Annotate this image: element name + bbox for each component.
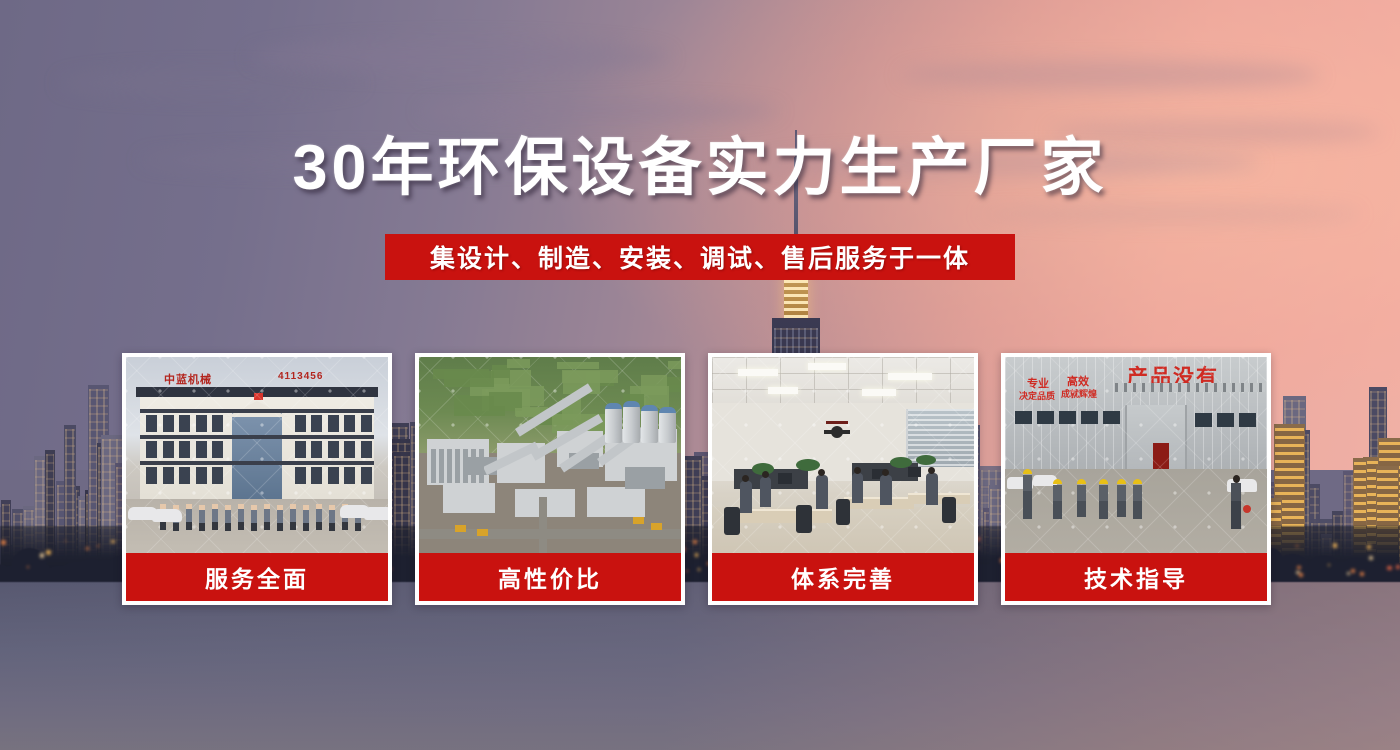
facade-band xyxy=(140,435,374,439)
shore-light xyxy=(1396,565,1400,569)
ceiling-light xyxy=(862,389,896,396)
staff-person xyxy=(316,504,322,530)
building-entrance xyxy=(232,413,282,499)
factory-window xyxy=(1103,411,1120,424)
window xyxy=(146,415,157,432)
building-phone-text: 4113456 xyxy=(278,371,323,382)
farmland-patch xyxy=(641,375,666,395)
staff-person xyxy=(303,505,309,531)
window xyxy=(196,415,207,432)
potted-plant xyxy=(916,455,936,465)
computer-monitor xyxy=(778,473,792,484)
person-head xyxy=(742,475,749,482)
worker xyxy=(1077,485,1086,517)
window xyxy=(163,467,174,484)
person-head xyxy=(882,469,889,476)
flag-icon xyxy=(254,393,263,400)
worker xyxy=(1117,485,1126,517)
farmland-patch xyxy=(444,371,494,387)
card-caption-text: 体系完善 xyxy=(791,560,895,594)
shore-light xyxy=(1328,564,1330,566)
factory-window xyxy=(1081,411,1098,424)
exhaust-stack xyxy=(431,449,436,483)
shore-light xyxy=(1296,545,1298,547)
silo-top xyxy=(641,405,658,411)
exhaust-stack xyxy=(455,449,460,483)
window xyxy=(311,467,322,484)
subtitle-banner: 集设计、制造、安装、调试、售后服务于一体 xyxy=(385,234,1015,280)
shore-light xyxy=(1333,543,1338,548)
plant-building xyxy=(443,483,495,513)
construction-machine xyxy=(477,529,488,536)
page-title: 30年环保设备实力生产厂家 xyxy=(0,132,1400,204)
shore-light xyxy=(1367,545,1371,549)
shore-light xyxy=(97,545,99,547)
factory-window xyxy=(1195,413,1212,427)
staff-person xyxy=(186,504,192,530)
window xyxy=(212,441,223,458)
hardhat-icon xyxy=(1099,479,1108,484)
construction-machine xyxy=(651,523,662,530)
facade-band xyxy=(140,461,374,465)
staff-person xyxy=(212,504,218,530)
person-head xyxy=(818,469,825,476)
plant-roof xyxy=(625,467,665,489)
window xyxy=(344,467,355,484)
roof-vent-strip xyxy=(1115,383,1265,392)
window xyxy=(361,441,372,458)
farmland-patch xyxy=(668,361,681,369)
staff-person xyxy=(264,504,270,530)
window xyxy=(344,415,355,432)
feature-card[interactable]: 中蓝机械 4113456 服务全面 xyxy=(122,353,392,605)
window xyxy=(212,467,223,484)
promo-banner: 30年环保设备实力生产厂家 集设计、制造、安装、调试、售后服务于一体 中蓝机械 … xyxy=(0,0,1400,750)
exhaust-stack xyxy=(463,449,468,483)
cloud xyxy=(420,100,780,122)
exhaust-stack xyxy=(471,449,476,483)
card-caption-bar: 体系完善 xyxy=(712,553,974,601)
hardhat-icon xyxy=(1117,479,1126,484)
window xyxy=(295,467,306,484)
worker xyxy=(1133,485,1142,519)
feature-card[interactable]: 高性价比 xyxy=(415,353,685,605)
shore-light xyxy=(1387,566,1391,570)
shore-light xyxy=(1360,572,1364,576)
office-worker xyxy=(760,477,771,507)
staff-person xyxy=(199,505,205,531)
window xyxy=(344,441,355,458)
staff-person xyxy=(290,504,296,530)
office-worker xyxy=(880,475,892,505)
ceiling-light xyxy=(808,363,846,370)
staff-person xyxy=(238,504,244,530)
factory-window xyxy=(1037,411,1054,424)
window xyxy=(163,441,174,458)
feature-card[interactable]: 体系完善 xyxy=(708,353,978,605)
office-worker xyxy=(740,481,752,513)
person-head xyxy=(854,467,861,474)
plant-building xyxy=(587,487,645,517)
factory-window xyxy=(1239,413,1256,427)
exhaust-stack xyxy=(447,449,452,483)
shore-light xyxy=(1299,573,1303,577)
computer-monitor xyxy=(908,467,921,477)
window xyxy=(311,441,322,458)
exhaust-stack xyxy=(439,449,444,483)
window xyxy=(146,467,157,484)
shore-light xyxy=(1297,566,1300,569)
office-worker xyxy=(852,473,863,503)
parked-car xyxy=(152,509,182,522)
office-chair xyxy=(724,507,740,535)
card-caption-bar: 高性价比 xyxy=(419,553,681,601)
window xyxy=(328,441,339,458)
exhaust-stack xyxy=(479,449,484,483)
construction-machine xyxy=(633,517,644,524)
hardhat-icon xyxy=(1023,469,1032,474)
ceiling-light xyxy=(738,369,778,376)
person-head xyxy=(762,471,769,478)
card-caption-text: 服务全面 xyxy=(205,560,309,594)
ceiling-light xyxy=(768,387,798,394)
window xyxy=(361,467,372,484)
farmland-patch xyxy=(507,359,530,369)
cloud xyxy=(980,205,1360,223)
window xyxy=(179,467,190,484)
window xyxy=(328,415,339,432)
farmland-patch xyxy=(562,370,619,383)
staff-person xyxy=(329,505,335,531)
shore-light xyxy=(1,540,6,545)
farmland-patch xyxy=(557,362,599,369)
hardhat-icon xyxy=(1077,479,1086,484)
shore-light xyxy=(1369,556,1373,560)
factory-window xyxy=(1217,413,1234,427)
plant-road xyxy=(539,497,547,553)
person-head xyxy=(928,467,935,474)
office-worker xyxy=(816,475,828,509)
window xyxy=(212,415,223,432)
window xyxy=(311,415,322,432)
office-interior-photo xyxy=(712,357,974,553)
storage-silo xyxy=(623,401,640,443)
staff-person xyxy=(225,505,231,531)
hardhat-icon xyxy=(1053,479,1062,484)
window xyxy=(146,441,157,458)
factory-window xyxy=(1015,411,1032,424)
factory-slogan-4: 成就辉煌 xyxy=(1061,387,1097,400)
office-chair xyxy=(836,499,850,525)
window xyxy=(196,441,207,458)
office-chair xyxy=(796,505,812,533)
supervisor-head xyxy=(1233,475,1240,483)
construction-machine xyxy=(455,525,466,532)
parked-car xyxy=(364,507,388,520)
staff-person xyxy=(251,505,257,531)
cloud xyxy=(900,60,1320,90)
worker xyxy=(1053,485,1062,519)
window xyxy=(328,467,339,484)
supervisor xyxy=(1231,483,1241,529)
worker xyxy=(1023,475,1032,519)
subtitle-text: 集设计、制造、安装、调试、售后服务于一体 xyxy=(430,239,970,275)
staff-person xyxy=(277,505,283,531)
worker xyxy=(1099,485,1108,519)
window xyxy=(295,441,306,458)
ceiling-light xyxy=(888,373,932,380)
window xyxy=(163,415,174,432)
facade-band xyxy=(140,409,374,413)
hardhat-icon xyxy=(1133,479,1142,484)
factory-red-door xyxy=(1153,443,1169,469)
building-sign-text: 中蓝机械 xyxy=(164,371,212,387)
card-caption-text: 技术指导 xyxy=(1084,560,1188,594)
card-caption-bar: 技术指导 xyxy=(1005,553,1267,601)
feature-card[interactable]: 产品没有 专业 决定品质 高效 成就辉煌 技术指导 xyxy=(1001,353,1271,605)
card-caption-text: 高性价比 xyxy=(498,560,602,594)
window xyxy=(361,415,372,432)
window xyxy=(179,415,190,432)
shore-light xyxy=(86,547,89,550)
office-desk xyxy=(908,493,970,504)
wall-decal xyxy=(820,419,854,445)
window xyxy=(196,467,207,484)
shore-light xyxy=(111,540,115,544)
shore-light xyxy=(27,566,29,568)
card-caption-bar: 服务全面 xyxy=(126,553,388,601)
aerial-production-plant-photo xyxy=(419,357,681,553)
red-hardhat-held xyxy=(1243,505,1251,513)
shore-light xyxy=(46,550,51,555)
company-headquarters-photo: 中蓝机械 4113456 xyxy=(126,357,388,553)
shore-light xyxy=(65,540,67,542)
factory-window xyxy=(1059,411,1076,424)
cloud xyxy=(250,40,670,74)
silo-top xyxy=(605,403,622,409)
office-worker xyxy=(926,473,938,505)
office-chair xyxy=(942,497,956,523)
potted-plant xyxy=(796,459,820,471)
silo-top xyxy=(659,407,676,413)
cloud xyxy=(60,70,360,96)
storage-silo xyxy=(605,403,622,443)
feature-card-list: 中蓝机械 4113456 服务全面 高性价比 xyxy=(122,353,1278,605)
workers-training-photo: 产品没有 专业 决定品质 高效 成就辉煌 xyxy=(1005,357,1267,553)
window xyxy=(295,415,306,432)
window xyxy=(179,441,190,458)
factory-slogan-2: 决定品质 xyxy=(1019,389,1055,402)
silo-top xyxy=(623,401,640,407)
